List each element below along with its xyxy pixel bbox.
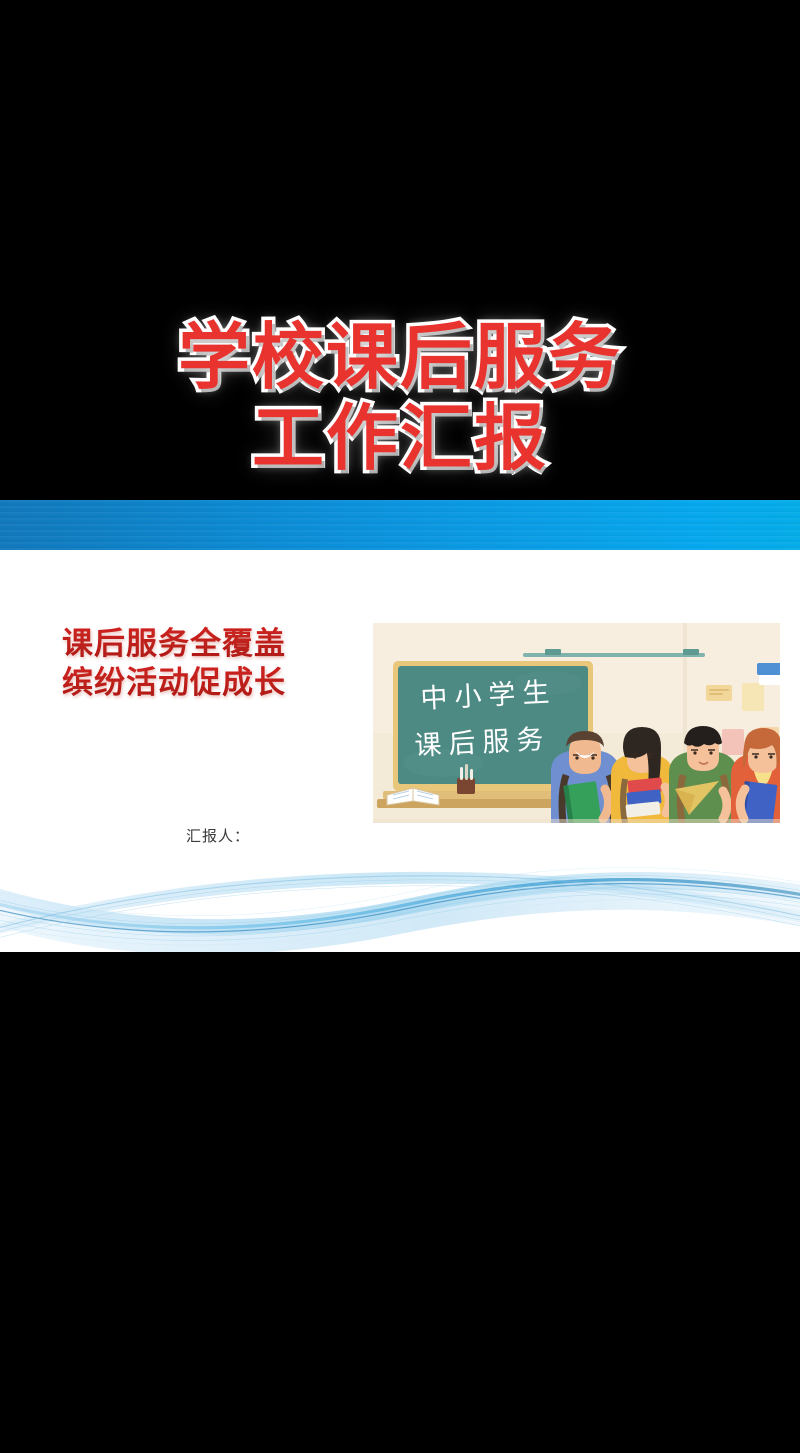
slide-body: 课后服务全覆盖 缤纷活动促成长 汇报人： <box>0 550 800 952</box>
bottom-letterbox <box>0 952 800 1453</box>
subtitle-block: 课后服务全覆盖 缤纷活动促成长 <box>62 625 372 703</box>
page-title-line-1: 学校课后服务 <box>178 320 622 395</box>
subtitle-line-2: 缤纷活动促成长 <box>62 664 372 703</box>
slide-stage: 学校课后服务 工作汇报 课后服务全覆盖 缤纷活动促成长 汇报人： <box>0 0 800 1453</box>
blue-wave-ribbon <box>0 842 800 952</box>
classroom-students-illustration: 中小学生 课后服务 <box>373 623 780 823</box>
cover-title-block: 学校课后服务 工作汇报 <box>0 300 800 500</box>
subtitle-line-1: 课后服务全覆盖 <box>62 625 372 664</box>
page-title-line-2: 工作汇报 <box>252 401 548 476</box>
blue-gradient-bar <box>0 500 800 550</box>
